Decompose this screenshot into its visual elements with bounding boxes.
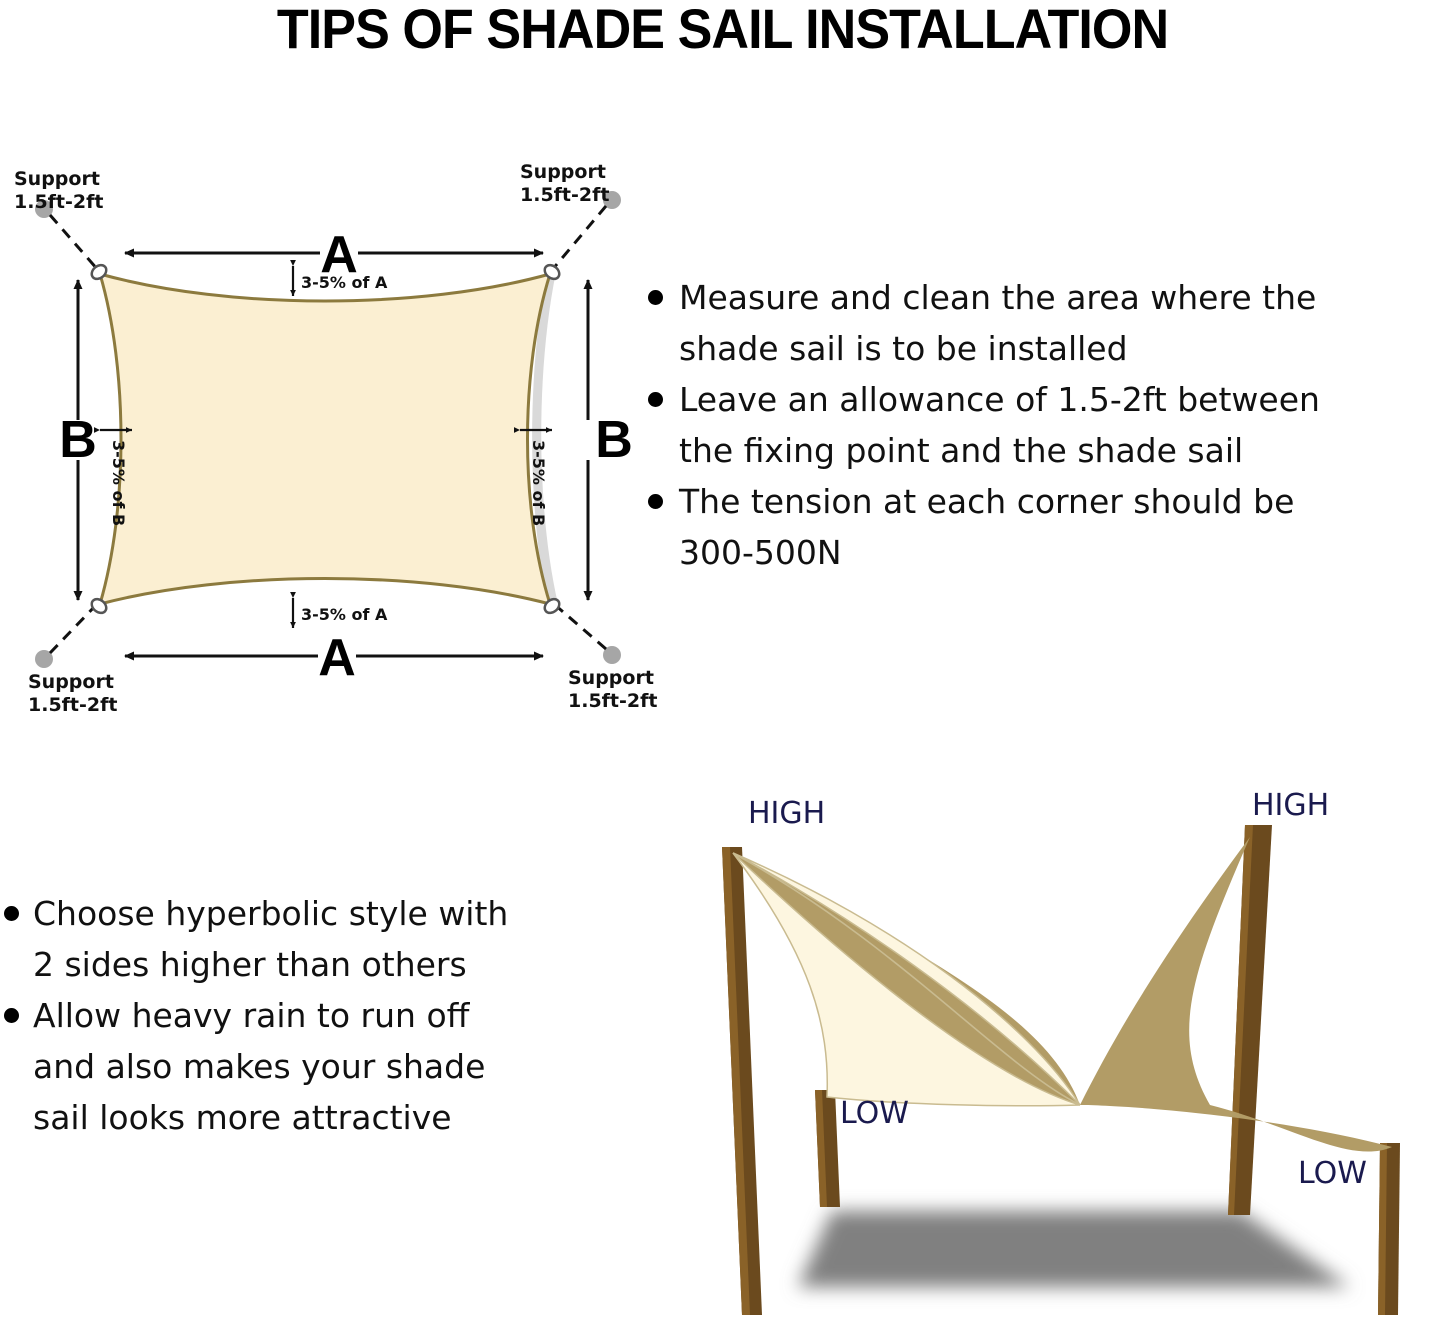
curve-label-top: 3-5% of A <box>301 273 388 292</box>
post-front-low <box>815 1090 840 1207</box>
tether-top-right <box>552 206 606 270</box>
support-label-bottom-left-line1: Support <box>28 671 114 693</box>
support-label-top-right-line1: Support <box>520 161 606 183</box>
bullet-dot-icon <box>4 906 19 921</box>
list-item-label: Leave an allowance of 1.5-2ft between th… <box>679 374 1445 476</box>
dim-label-left-b: B <box>59 411 97 469</box>
post-label-right-high: HIGH <box>1252 788 1329 823</box>
ground-shadow <box>798 1211 1350 1287</box>
curve-label-left: 3-5% of B <box>109 440 128 526</box>
list-item-label: The tension at each corner should be 300… <box>679 476 1445 578</box>
dim-label-bottom-a: A <box>318 629 356 687</box>
support-label-top-left-line1: Support <box>14 168 100 190</box>
list-item: Choose hyperbolic style with 2 sides hig… <box>4 888 624 990</box>
tips-list-top: Measure and clean the area where the sha… <box>648 272 1445 578</box>
support-label-bottom-left-line2: 1.5ft-2ft <box>28 694 117 716</box>
list-item-label: Measure and clean the area where the sha… <box>679 272 1445 374</box>
post-right-low <box>1378 1143 1400 1315</box>
tether-bottom-right <box>554 604 606 649</box>
post-label-front-low: LOW <box>840 1096 909 1131</box>
tether-top-left <box>50 215 98 270</box>
list-item: The tension at each corner should be 300… <box>648 476 1445 578</box>
post-right-high <box>1228 825 1272 1215</box>
post-label-left-high: HIGH <box>748 796 825 831</box>
list-item-label: Choose hyperbolic style with 2 sides hig… <box>33 888 624 990</box>
bullet-dot-icon <box>648 290 663 305</box>
bullet-dot-icon <box>4 1008 19 1023</box>
post-left-high <box>722 847 762 1315</box>
post-label-right-low: LOW <box>1298 1156 1367 1191</box>
list-item: Measure and clean the area where the sha… <box>648 272 1445 374</box>
support-label-top-left-line2: 1.5ft-2ft <box>14 191 103 213</box>
sail-body <box>100 274 550 604</box>
list-item: Allow heavy rain to run off and also mak… <box>4 990 624 1143</box>
tether-bottom-left <box>50 603 98 653</box>
bullet-dot-icon <box>648 392 663 407</box>
curve-label-right: 3-5% of B <box>529 440 548 526</box>
list-item: Leave an allowance of 1.5-2ft between th… <box>648 374 1445 476</box>
list-item-label: Allow heavy rain to run off and also mak… <box>33 990 624 1143</box>
hyperbolic-sail-diagram: HIGH HIGH LOW LOW <box>650 775 1445 1319</box>
infographic-page: TIPS OF SHADE SAIL INSTALLATION <box>0 0 1445 1319</box>
curve-label-bottom: 3-5% of A <box>301 605 388 624</box>
support-label-bottom-right-line1: Support <box>568 667 654 689</box>
page-title: TIPS OF SHADE SAIL INSTALLATION <box>51 0 1395 60</box>
tips-list-bottom: Choose hyperbolic style with 2 sides hig… <box>4 888 624 1143</box>
rect-sail-diagram: A A B B 3-5% of A 3-5% of A 3-5% of B <box>0 160 660 720</box>
dim-label-right-b: B <box>595 411 633 469</box>
bullet-dot-icon <box>648 494 663 509</box>
support-label-top-right-line2: 1.5ft-2ft <box>520 184 609 206</box>
support-label-bottom-right-line2: 1.5ft-2ft <box>568 690 657 712</box>
